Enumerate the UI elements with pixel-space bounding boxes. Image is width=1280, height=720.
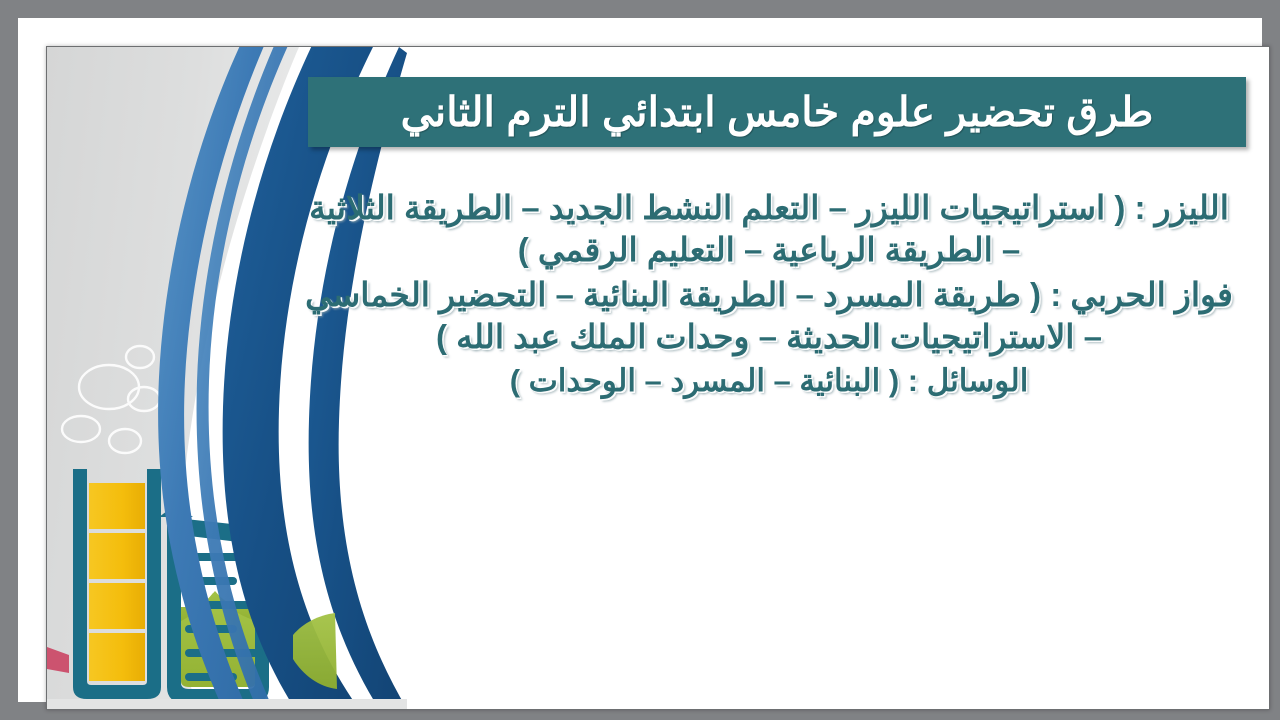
bubble-outlines bbox=[62, 346, 160, 453]
pink-accent bbox=[47, 647, 69, 673]
page-title: طرق تحضير علوم خامس ابتدائي الترم الثاني bbox=[401, 92, 1154, 133]
paragraph-laser-methods: الليزر : ( استراتيجيات الليزر – التعلم ا… bbox=[299, 187, 1239, 270]
swoosh-light-blue bbox=[158, 47, 283, 709]
swoosh-light-blue-secondary bbox=[197, 47, 291, 709]
slide-canvas: طرق تحضير علوم خامس ابتدائي الترم الثاني… bbox=[46, 46, 1270, 710]
test-tube-glyph bbox=[73, 469, 161, 699]
slide-page: طرق تحضير علوم خامس ابتدائي الترم الثاني… bbox=[0, 0, 1280, 720]
white-frame-gap: طرق تحضير علوم خامس ابتدائي الترم الثاني… bbox=[18, 18, 1262, 702]
green-sliver bbox=[293, 613, 337, 689]
beaker-glyph bbox=[159, 505, 279, 707]
title-banner: طرق تحضير علوم خامس ابتدائي الترم الثاني bbox=[308, 77, 1246, 147]
paragraph-fawaz-alharbi-methods: فواز الحربي : ( طريقة المسرد – الطريقة ا… bbox=[299, 274, 1239, 357]
beaker-graduations bbox=[185, 553, 263, 681]
artwork-gray-panel bbox=[47, 47, 299, 709]
outer-gray-frame: طرق تحضير علوم خامس ابتدائي الترم الثاني… bbox=[0, 0, 1280, 720]
floor-reflection bbox=[47, 699, 407, 709]
body-content: الليزر : ( استراتيجيات الليزر – التعلم ا… bbox=[299, 187, 1239, 402]
paragraph-means-methods: الوسائل : ( البنائية – المسرد – الوحدات … bbox=[299, 361, 1239, 400]
